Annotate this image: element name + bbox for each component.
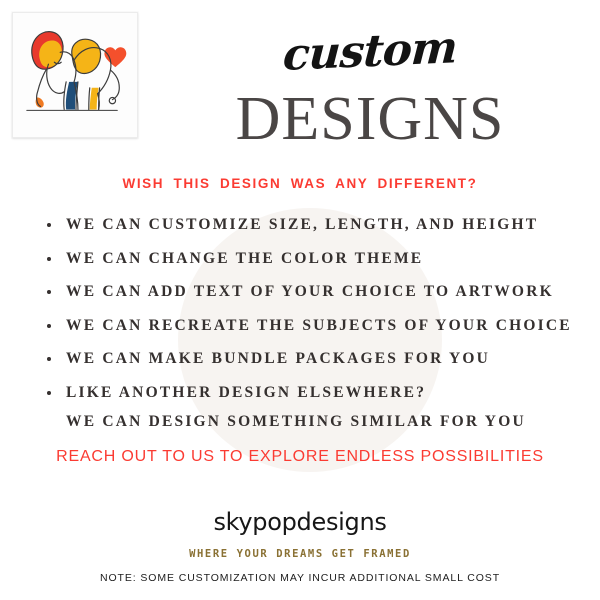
bullet-dot [47,324,51,328]
list-item: WE CAN MAKE BUNDLE PACKAGES FOR YOU [46,350,586,368]
brand-tagline: WHERE YOUR DREAMS GET FRAMED [0,548,600,560]
features-list: WE CAN CUSTOMIZE SIZE, LENGTH, AND HEIGH… [46,216,586,447]
custom-designs-infographic: custom DESIGNS WISH THIS DESIGN WAS ANY … [0,0,600,600]
script-title: custom [282,26,458,78]
bullet-dot [47,290,51,294]
bullet-dot [47,391,51,395]
sub-headline: WISH THIS DESIGN WAS ANY DIFFERENT? [0,176,600,191]
list-item-continuation: WE CAN DESIGN SOMETHING SIMILAR FOR YOU [46,413,586,431]
bullet-dot [47,257,51,261]
bullet-dot [47,223,51,227]
bullet-dot [47,357,51,361]
list-item: WE CAN CHANGE THE COLOR THEME [46,250,586,268]
list-item: LIKE ANOTHER DESIGN ELSEWHERE? [46,384,586,402]
list-item-label: WE CAN CUSTOMIZE SIZE, LENGTH, AND HEIGH… [66,216,538,233]
list-item-label: WE CAN MAKE BUNDLE PACKAGES FOR YOU [66,350,490,367]
footer-note: NOTE: SOME CUSTOMIZATION MAY INCUR ADDIT… [0,572,600,584]
headline-block: custom DESIGNS [150,18,590,150]
list-item-label: WE CAN CHANGE THE COLOR THEME [66,250,423,267]
list-item: WE CAN CUSTOMIZE SIZE, LENGTH, AND HEIGH… [46,216,586,234]
list-item: WE CAN RECREATE THE SUBJECTS OF YOUR CHO… [46,317,586,335]
elephant-artwork-thumbnail[interactable] [12,12,138,138]
list-item-label: WE CAN DESIGN SOMETHING SIMILAR FOR YOU [66,413,526,430]
list-item-label: LIKE ANOTHER DESIGN ELSEWHERE? [66,384,426,401]
elephant-line-art-icon [13,13,137,137]
list-item-label: WE CAN ADD TEXT OF YOUR CHOICE TO ARTWOR… [66,283,554,300]
page-title: DESIGNS [150,88,590,150]
brand-name: skypopdesigns [0,508,600,536]
call-to-action-text: REACH OUT TO US TO EXPLORE ENDLESS POSSI… [0,448,600,466]
list-item-label: WE CAN RECREATE THE SUBJECTS OF YOUR CHO… [66,317,572,334]
list-item: WE CAN ADD TEXT OF YOUR CHOICE TO ARTWOR… [46,283,586,301]
